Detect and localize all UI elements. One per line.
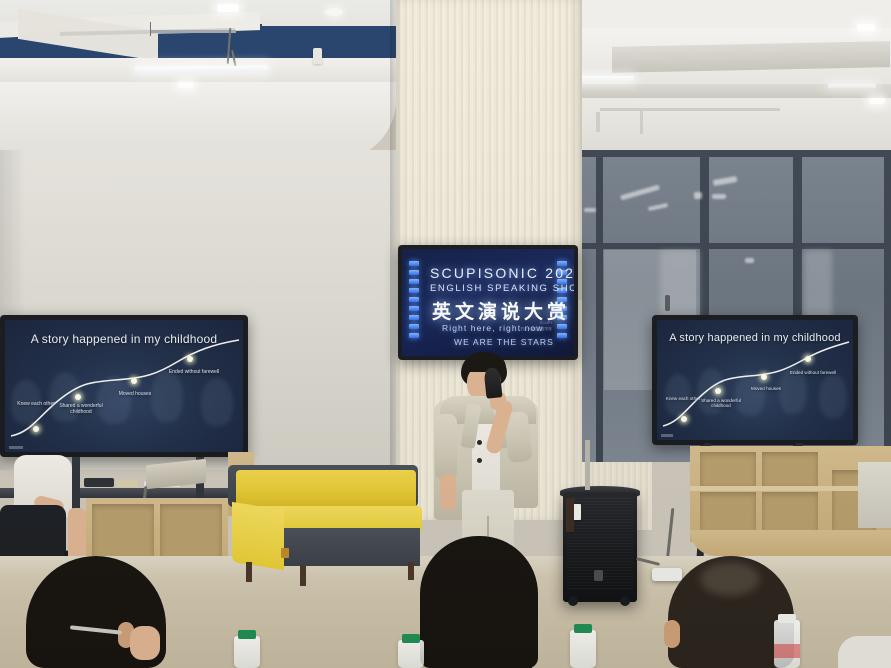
timeline-node-label: Shared a wonderful childhood [51, 404, 111, 416]
shelf-cell [92, 504, 154, 562]
main-led-display[interactable]: SCUPISONIC 2025 ENGLISH SPEAKING SHOW 英文… [398, 245, 578, 360]
glass-reflection-5 [712, 194, 726, 199]
audience-shoulder-right [838, 636, 891, 668]
timeline-node [761, 374, 767, 380]
glass-reflection-4 [694, 192, 702, 199]
equalizer-bar [409, 315, 419, 320]
led-title-chinese: 英文演说大赏 [432, 297, 570, 324]
ceiling-pipe-2 [150, 30, 236, 33]
timeline-node [187, 356, 193, 362]
timeline-node [131, 378, 137, 384]
bottle-label [774, 644, 800, 658]
left-display[interactable]: A story happened in my childhood Knew ea… [0, 315, 248, 457]
pa-speaker-logo [594, 570, 603, 581]
left-display-screen: A story happened in my childhood Knew ea… [5, 320, 243, 452]
yellow-lounge-sofa-backrest [236, 470, 416, 508]
led-logo-line2: 四川大学匹兹堡学院 [521, 327, 552, 331]
equalizer-bar [409, 261, 419, 266]
bottle-cap [574, 624, 592, 633]
ceiling-pipe-3 [600, 108, 780, 111]
bottle-cap [778, 614, 796, 623]
presenter-blazer-button-1 [477, 440, 482, 445]
linear-light-right-2 [828, 84, 876, 88]
sofa-base [278, 528, 420, 566]
presenter-forearm-left [440, 474, 456, 510]
equalizer-bar [557, 333, 567, 338]
audience-head-right-ear [664, 620, 680, 648]
timeline-node-label: Ended without farewell [785, 370, 841, 375]
hanging-wire-1 [150, 22, 151, 36]
ceiling-soffit-band-2 [0, 82, 396, 160]
timeline-node [805, 356, 811, 362]
audience-head-center-hair-fall [432, 592, 532, 668]
presenter-blazer-button-2 [477, 458, 482, 463]
slide-page-mark [661, 434, 673, 437]
shelf-cell [762, 492, 818, 534]
recessed-light-3 [857, 24, 875, 31]
right-display[interactable]: A story happened in my childhood Knew ea… [652, 315, 858, 445]
desk-clutter-1 [84, 478, 114, 487]
timeline-node [715, 388, 721, 394]
mullion-v-1 [596, 150, 603, 462]
water-bottle-center-left[interactable] [398, 640, 424, 668]
timeline-node-label: Shared a wonderful childhood [695, 398, 747, 409]
shelf-divider [690, 486, 876, 491]
slide-page-mark [9, 446, 23, 449]
timeline-curve [657, 320, 853, 440]
water-bottle-left[interactable] [234, 636, 260, 668]
presentation-room-photo: A story happened in my childhood Knew ea… [0, 0, 891, 668]
ceiling-pipe-5 [640, 110, 643, 134]
equalizer-bar [557, 324, 567, 329]
mullion-h-top [582, 150, 891, 157]
recessed-light-1 [217, 4, 239, 12]
right-wall-cabinet [858, 462, 891, 528]
audience-left-hand [130, 626, 160, 660]
equalizer-bar [409, 288, 419, 293]
led-subtitle-line2: WE ARE THE STARS [454, 337, 554, 347]
hair-bow-knot [466, 562, 486, 588]
timeline-node [75, 394, 81, 400]
equalizer-bar [409, 333, 419, 338]
sofa-tag [281, 548, 289, 558]
pa-speaker-caster-left [568, 596, 578, 606]
equalizer-bar [409, 270, 419, 275]
ceiling-right-lower [560, 98, 891, 156]
mullion-v-4 [884, 150, 891, 462]
bottle-cap [402, 634, 420, 643]
sofa-leg-1 [246, 562, 252, 582]
timeline-node [33, 426, 39, 432]
recessed-light-2 [178, 82, 194, 88]
equalizer-bar [409, 279, 419, 284]
led-title-line2: ENGLISH SPEAKING SHOW [430, 283, 574, 294]
timeline-node [681, 416, 687, 422]
recessed-light-4 [869, 98, 885, 104]
ceiling-pipe-4 [596, 112, 600, 132]
desk-clutter-2 [116, 480, 138, 487]
timeline-curve [5, 320, 243, 452]
shelf-cell [700, 452, 756, 486]
shelf-cell [762, 452, 818, 486]
main-led-screen-surface: SCUPISONIC 2025 ENGLISH SPEAKING SHOW 英文… [402, 249, 574, 356]
shelving-curved-front [690, 530, 891, 556]
ceiling-sensor [313, 48, 322, 64]
sofa-leg-2 [300, 566, 306, 586]
equalizer-bar [409, 324, 419, 329]
glass-reflection-6 [584, 208, 596, 212]
equalizer-bar [409, 306, 419, 311]
timeline-node-label: Ended without farewell [161, 370, 227, 376]
timeline-node-label: Moved houses [109, 392, 161, 398]
pa-speaker-caster-right [620, 596, 630, 606]
sofa-arm [232, 502, 284, 570]
water-bottle-center-right[interactable] [570, 630, 596, 668]
audience-head-left-bun [30, 616, 74, 658]
presenter-sleeve-left [435, 414, 457, 480]
pa-speaker-knob-panel[interactable] [566, 498, 574, 532]
timeline-node-label: Moved houses [743, 386, 789, 391]
shelf-cell [700, 492, 756, 534]
mullion-h-mid [582, 243, 891, 249]
presenter-fringe [464, 354, 506, 372]
pa-mic-stand-pole [585, 440, 590, 490]
glass-reflection-7 [745, 258, 754, 263]
sofa-leg-3 [408, 562, 414, 580]
audience-head-right-highlight [700, 562, 760, 596]
bottle-cap [238, 630, 256, 639]
shelf-cell [160, 504, 222, 562]
led-logo-line1: SCUPI [540, 321, 552, 325]
floor-power-strip[interactable] [652, 568, 682, 581]
right-display-screen: A story happened in my childhood Knew ea… [657, 320, 853, 440]
led-title-line1: SCUPISONIC 2025 [430, 265, 574, 281]
equalizer-bar [409, 297, 419, 302]
ceiling-speaker-1 [325, 8, 343, 16]
